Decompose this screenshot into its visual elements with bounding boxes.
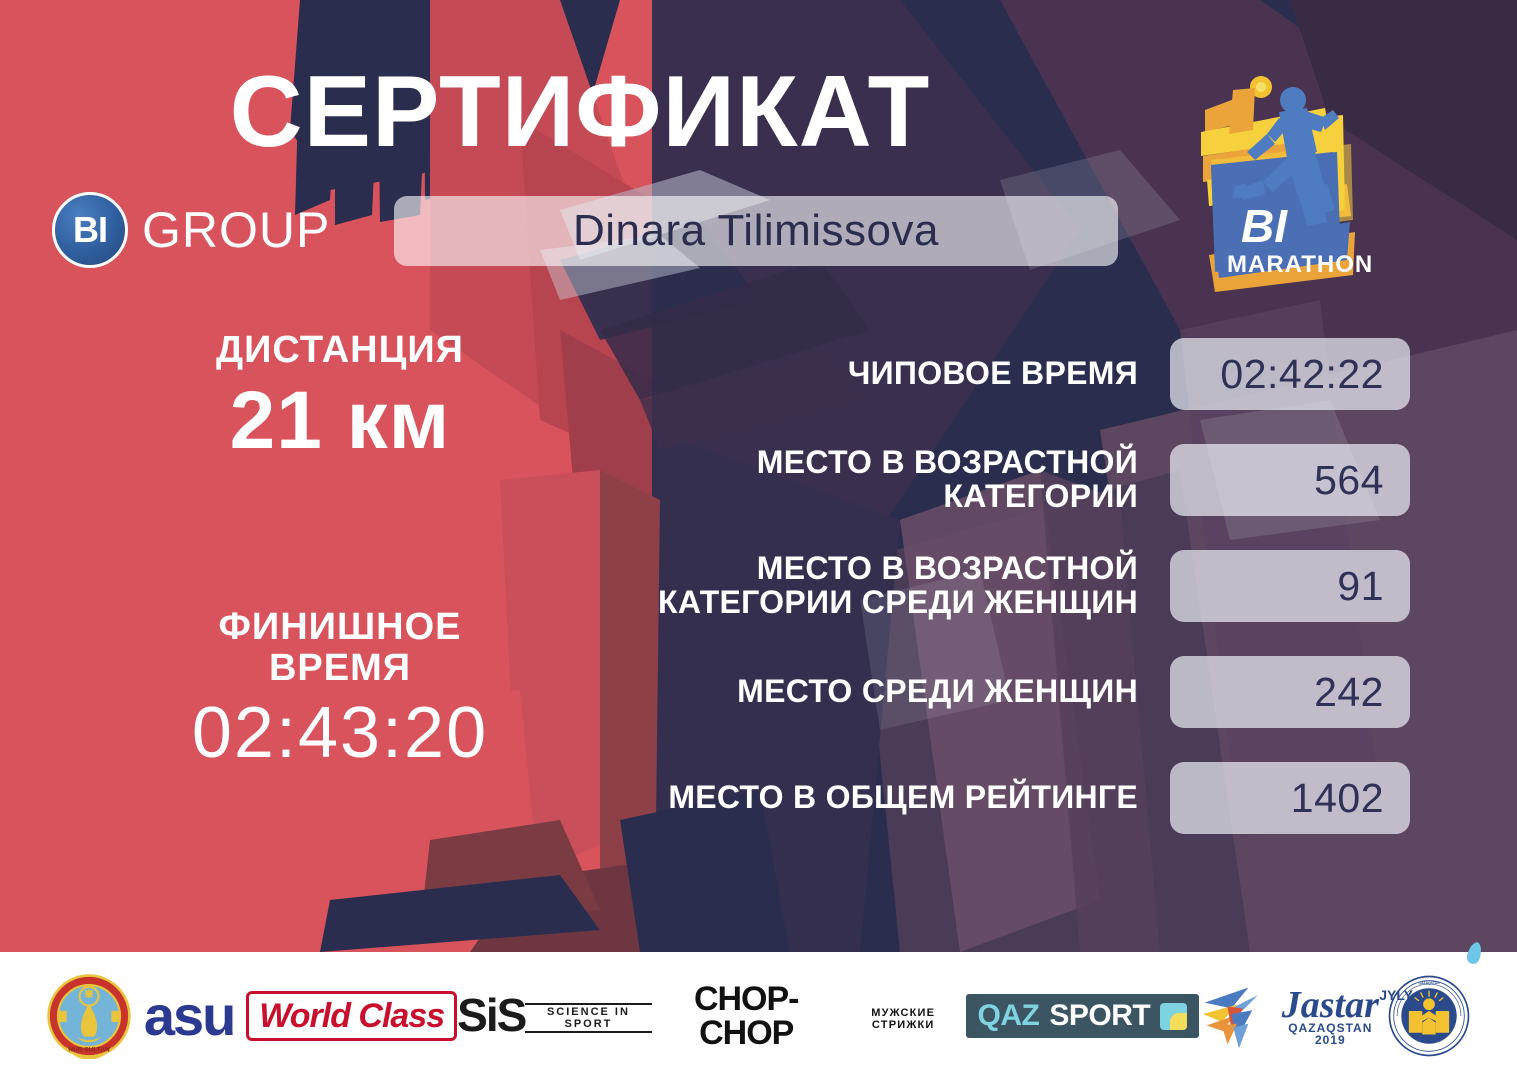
qazsport-mark-icon bbox=[1160, 1003, 1187, 1030]
result-row-women: МЕСТО СРЕДИ ЖЕНЩИН 242 bbox=[560, 656, 1410, 728]
result-value-pill: 02:42:22 bbox=[1170, 338, 1410, 410]
marathon-logo-graphic: BI MARATHON bbox=[1175, 60, 1390, 310]
bi-group-logo: BI GROUP bbox=[52, 190, 330, 270]
sponsor-sis: SiS SCIENCE IN SPORT bbox=[457, 968, 651, 1064]
distance-block: ДИСТАНЦИЯ 21 км bbox=[60, 330, 620, 467]
sponsor-jastar: Jastar JYLY QAZAQSTAN 2019 bbox=[1199, 968, 1387, 1064]
left-stats-column: ДИСТАНЦИЯ 21 км ФИНИШНОЕ ВРЕМЯ 02:43:20 bbox=[60, 330, 620, 774]
result-label: МЕСТО В ВОЗРАСТНОЙ КАТЕГОРИИ bbox=[560, 446, 1170, 514]
jastar-jyly: JYLY bbox=[1379, 988, 1413, 1002]
page-title: СЕРТИФИКАТ bbox=[0, 62, 1160, 163]
sis-tagline: SCIENCE IN SPORT bbox=[525, 1003, 651, 1033]
finish-label-line1: ФИНИШНОЕ bbox=[60, 607, 620, 648]
bi-marathon-logo: BI MARATHON bbox=[1175, 60, 1390, 310]
sponsor-footer: NUR-SULTAN asu World Class SiS SCIENCE I… bbox=[0, 952, 1517, 1080]
svg-text:QAZAQSTAN: QAZAQSTAN bbox=[1418, 981, 1440, 985]
results-list: ЧИПОВОЕ ВРЕМЯ 02:42:22 МЕСТО В ВОЗРАСТНО… bbox=[560, 338, 1410, 868]
marathon-bi-text: BI bbox=[1241, 200, 1288, 252]
worldclass-badge: World Class bbox=[246, 991, 457, 1041]
participant-name-pill: Dinara Tilimissova bbox=[394, 196, 1118, 266]
result-value: 91 bbox=[1337, 563, 1384, 610]
chopchop-tagline: МУЖСКИЕ СТРИЖКИ bbox=[841, 1007, 966, 1031]
bi-group-wordmark: GROUP bbox=[142, 201, 330, 259]
sponsor-qazsport: QAZ SPORT bbox=[966, 968, 1200, 1064]
svg-text:NUR-SULTAN: NUR-SULTAN bbox=[68, 1046, 110, 1053]
result-value-pill: 242 bbox=[1170, 656, 1410, 728]
result-row-age-category: МЕСТО В ВОЗРАСТНОЙ КАТЕГОРИИ 564 bbox=[560, 444, 1410, 516]
qazsport-part1: QAZ bbox=[978, 1001, 1040, 1031]
jastar-wordmark: Jastar bbox=[1274, 986, 1387, 1024]
jastar-subtitle: QAZAQSTAN 2019 bbox=[1274, 1022, 1387, 1046]
result-value: 242 bbox=[1314, 669, 1384, 716]
qazsport-badge: QAZ SPORT bbox=[966, 994, 1200, 1038]
sis-wordmark: SiS bbox=[457, 994, 525, 1038]
result-value: 02:42:22 bbox=[1220, 351, 1384, 398]
result-label: ЧИПОВОЕ ВРЕМЯ bbox=[560, 357, 1170, 391]
asu-wordmark: asu bbox=[144, 988, 235, 1044]
result-value-pill: 1402 bbox=[1170, 762, 1410, 834]
marathon-word-text: MARATHON bbox=[1227, 251, 1373, 278]
sponsor-worldclass: World Class bbox=[246, 968, 457, 1064]
qazsport-part2: SPORT bbox=[1049, 1001, 1150, 1031]
worldclass-wordmark: World Class bbox=[259, 999, 444, 1033]
sponsor-chopchop: CHOP-CHOP МУЖСКИЕ СТРИЖКИ bbox=[652, 968, 966, 1064]
sponsor-ministry: QAZAQSTAN bbox=[1387, 968, 1471, 1064]
result-value-pill: 91 bbox=[1170, 550, 1410, 622]
finish-time-block: ФИНИШНОЕ ВРЕМЯ 02:43:20 bbox=[60, 607, 620, 774]
result-label: МЕСТО СРЕДИ ЖЕНЩИН bbox=[560, 675, 1170, 709]
jastar-text-block: Jastar JYLY QAZAQSTAN 2019 bbox=[1274, 986, 1387, 1046]
result-value-pill: 564 bbox=[1170, 444, 1410, 516]
bi-circle-icon: BI bbox=[52, 192, 128, 268]
chopchop-wordmark: CHOP-CHOP bbox=[652, 982, 841, 1050]
finish-label-line2: ВРЕМЯ bbox=[60, 648, 620, 689]
nursultan-emblem-icon: NUR-SULTAN bbox=[46, 973, 132, 1059]
sponsor-asu: asu bbox=[132, 968, 246, 1064]
result-value: 564 bbox=[1314, 457, 1384, 504]
result-label: МЕСТО В ВОЗРАСТНОЙ КАТЕГОРИИ СРЕДИ ЖЕНЩИ… bbox=[560, 552, 1170, 620]
result-row-age-category-women: МЕСТО В ВОЗРАСТНОЙ КАТЕГОРИИ СРЕДИ ЖЕНЩИ… bbox=[560, 550, 1410, 622]
distance-value: 21 км bbox=[60, 375, 620, 467]
distance-label: ДИСТАНЦИЯ bbox=[60, 330, 620, 371]
jastar-bird-icon bbox=[1199, 978, 1267, 1054]
bi-logo-text: BI bbox=[73, 212, 107, 248]
finish-time-value: 02:43:20 bbox=[60, 693, 620, 774]
certificate-canvas: СЕРТИФИКАТ Dinara Tilimissova BI GROUP bbox=[0, 0, 1517, 1080]
result-row-chip-time: ЧИПОВОЕ ВРЕМЯ 02:42:22 bbox=[560, 338, 1410, 410]
result-value: 1402 bbox=[1291, 775, 1384, 822]
result-label: МЕСТО В ОБЩЕМ РЕЙТИНГЕ bbox=[560, 781, 1170, 815]
result-row-overall: МЕСТО В ОБЩЕМ РЕЙТИНГЕ 1402 bbox=[560, 762, 1410, 834]
participant-name: Dinara Tilimissova bbox=[573, 206, 939, 256]
sponsor-nursultan: NUR-SULTAN bbox=[46, 968, 132, 1064]
